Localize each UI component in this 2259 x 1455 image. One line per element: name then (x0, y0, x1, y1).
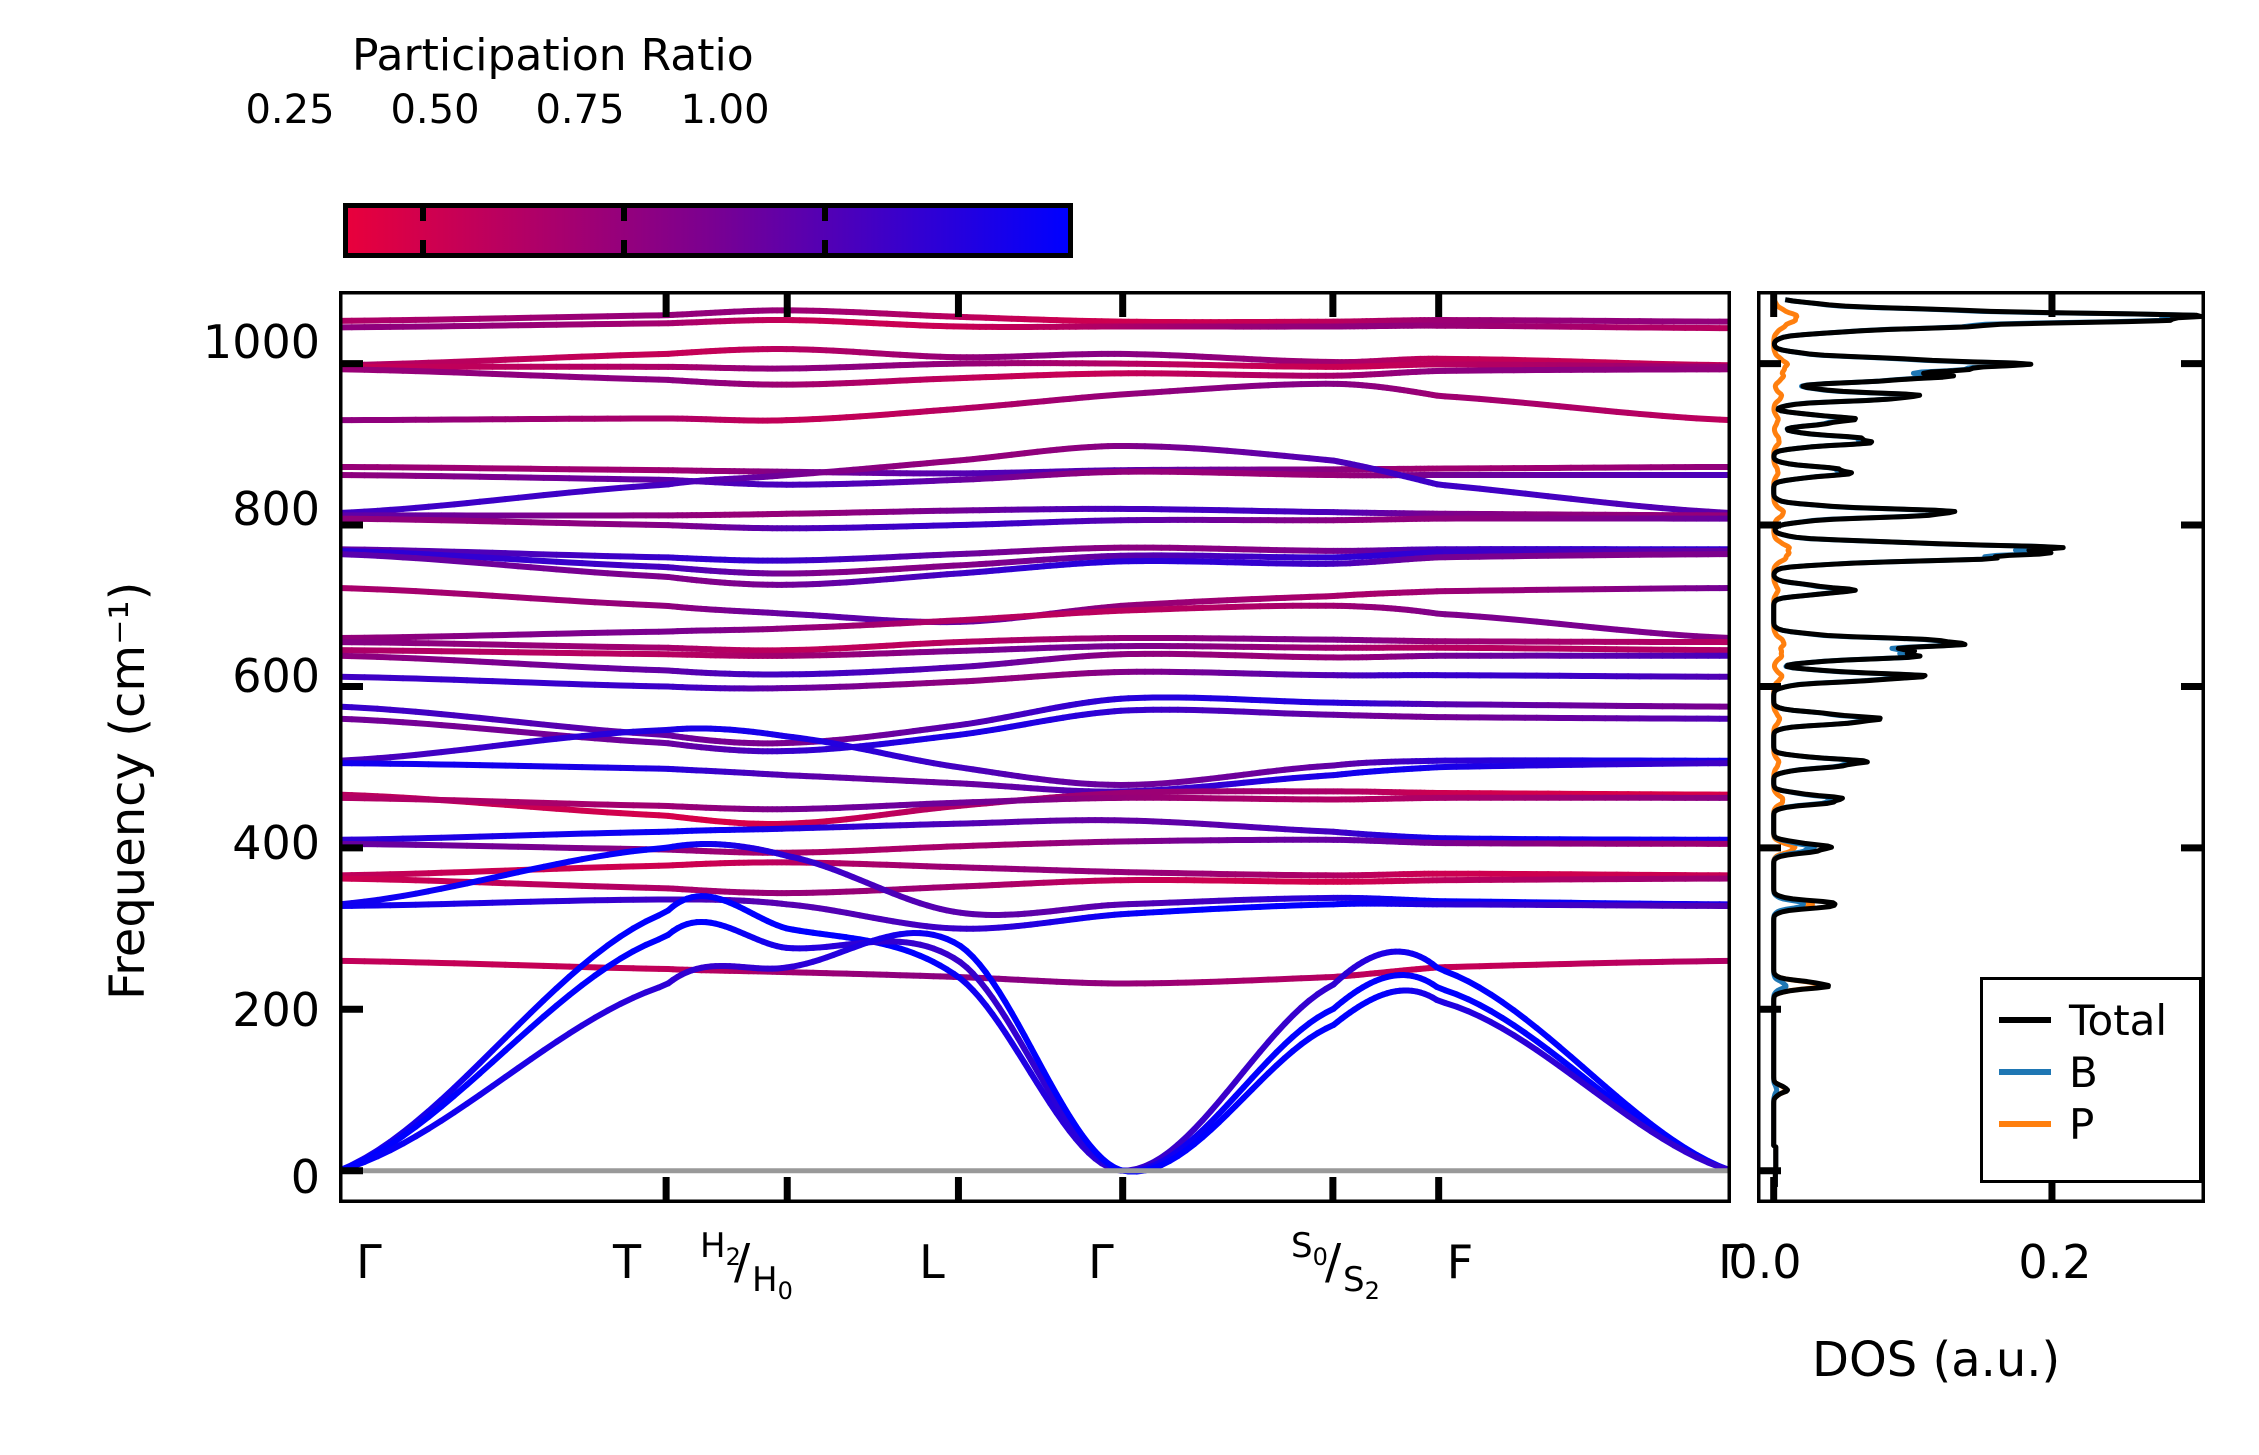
colorbar-tickmark-3b (822, 240, 828, 256)
xtick-H2-H0: H2 / H0 (700, 1240, 800, 1304)
colorbar-tickmark-3 (822, 205, 828, 221)
ytick-1000: 1000 (90, 315, 320, 369)
dos-legend: Total B P (1980, 977, 2202, 1183)
yaxis-label-text: Frequency (cm⁻¹) (100, 582, 156, 1000)
yaxis-label: Frequency (cm⁻¹) (100, 582, 156, 1000)
xtick-S0-S2-fraction: S0 / S2 (1291, 1240, 1391, 1304)
xtick-H2-H0-fraction: H2 / H0 (700, 1240, 800, 1304)
legend-item-total[interactable]: Total (1983, 994, 2199, 1046)
xtick-H2-H0-slash: / (734, 1234, 750, 1290)
legend-item-b[interactable]: B (1983, 1046, 2199, 1098)
legend-label-p: P (2069, 1100, 2094, 1149)
colorbar-tickmark-2b (621, 240, 627, 256)
ytick-400: 400 (90, 816, 320, 870)
legend-swatch-p (1999, 1121, 2051, 1127)
xtick-H0-denominator: H0 (752, 1260, 793, 1305)
xtick-F: F (1400, 1235, 1520, 1289)
ytick-600: 600 (90, 649, 320, 703)
colorbar-tickmark-2 (621, 205, 627, 221)
ytick-200: 200 (90, 983, 320, 1037)
legend-label-total: Total (2069, 996, 2167, 1045)
phonon-band-dos-figure: Participation Ratio 0.25 0.50 0.75 1.00 … (0, 0, 2259, 1455)
xtick-S2-denominator: S2 (1343, 1260, 1380, 1305)
dos-xtick-02: 0.2 (1990, 1235, 2120, 1289)
ytick-800: 800 (90, 482, 320, 536)
legend-swatch-b (1999, 1069, 2051, 1075)
colorbar-tickmark-1 (420, 205, 426, 221)
colorbar-title: Participation Ratio (352, 30, 754, 81)
colorbar-tick-050: 0.50 (355, 87, 515, 133)
xtick-T: T (567, 1235, 687, 1289)
dos-axis-label: DOS (a.u.) (1812, 1332, 2060, 1388)
xtick-gamma-1: Γ (309, 1235, 429, 1289)
xtick-S0-numerator: S0 (1291, 1226, 1328, 1271)
participation-ratio-colorbar (343, 203, 1073, 258)
xtick-L: L (872, 1235, 992, 1289)
legend-label-b: B (2069, 1048, 2098, 1097)
band-structure-panel (339, 291, 1731, 1203)
dos-xtick-00: 0.0 (1700, 1235, 1830, 1289)
colorbar-tick-100: 1.00 (645, 87, 805, 133)
ytick-0: 0 (90, 1150, 320, 1204)
xtick-S0-S2-slash: / (1325, 1234, 1341, 1290)
legend-item-p[interactable]: P (1983, 1098, 2199, 1150)
colorbar-tick-025: 0.25 (210, 87, 370, 133)
legend-swatch-total (1999, 1017, 2051, 1023)
colorbar-tickmark-1b (420, 240, 426, 256)
xtick-S0-S2: S0 / S2 (1291, 1240, 1391, 1304)
xtick-gamma-2: Γ (1041, 1235, 1161, 1289)
colorbar-tick-075: 0.75 (500, 87, 660, 133)
